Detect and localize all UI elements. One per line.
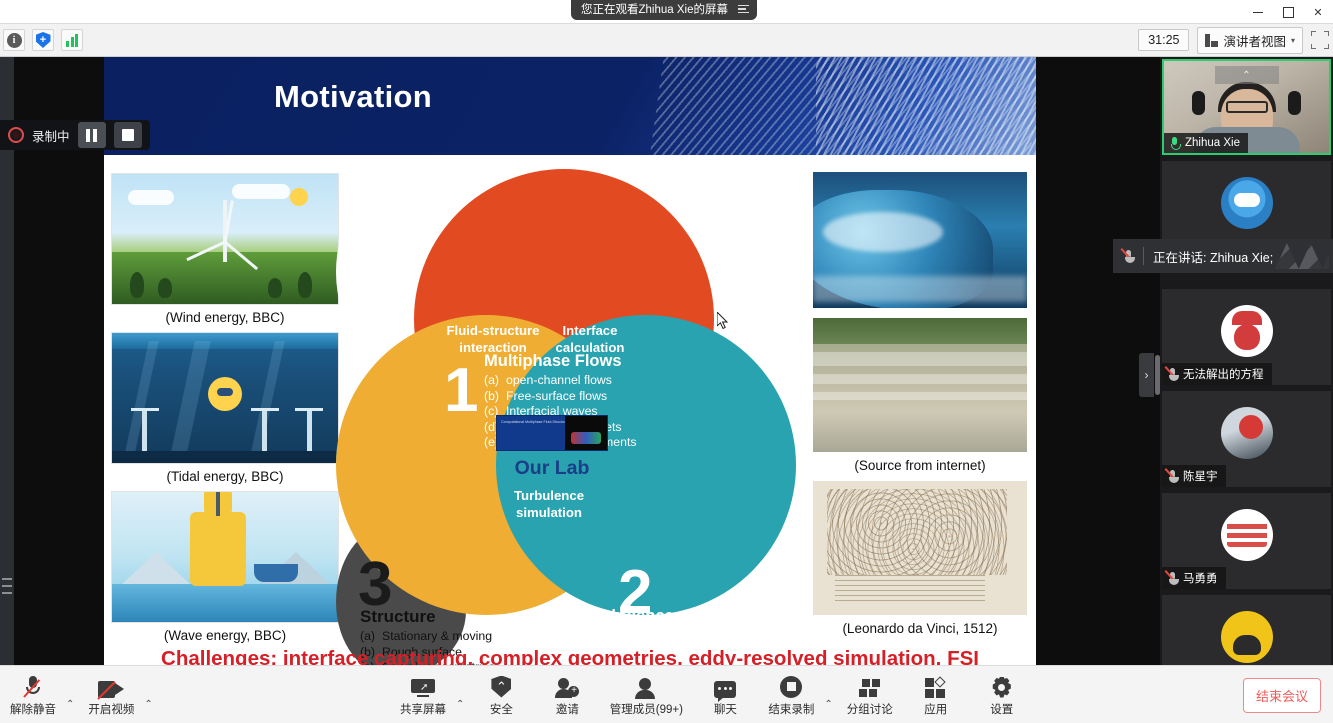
mic-muted-icon — [1167, 571, 1178, 585]
avatar — [1221, 407, 1273, 459]
chat-label: 聊天 — [714, 701, 737, 717]
avatar — [1221, 611, 1273, 663]
list-label: (a) — [586, 628, 602, 644]
wind-energy-photo — [111, 173, 339, 305]
apps-grid-icon — [925, 674, 946, 698]
participants-panel[interactable]: ⌃ Zhihua Xie 无法解出的方程 陈星宇 — [1160, 57, 1333, 665]
participant-name: 无法解出的方程 — [1183, 366, 1264, 382]
share-toolbar-right: 31:25 演讲者视图 ▾ — [1138, 27, 1333, 54]
share-screen-icon: ➚ — [411, 674, 435, 698]
menu-icon[interactable] — [738, 5, 749, 14]
participant-tile-6[interactable]: ⌄ — [1162, 595, 1331, 665]
participant-name-badge: 马勇勇 — [1162, 567, 1226, 589]
stop-record-icon — [780, 674, 802, 698]
maximize-button[interactable] — [1273, 0, 1303, 24]
collapse-panel-handle[interactable]: › — [1139, 353, 1154, 397]
avatar — [1221, 509, 1273, 561]
chat-bubble-icon — [714, 674, 736, 698]
video-options-chevron-icon[interactable]: ⌃ — [144, 699, 152, 723]
panel-scrollbar[interactable] — [1155, 355, 1160, 395]
recording-indicator: 录制中 — [0, 120, 150, 150]
tidal-energy-caption: (Tidal energy, BBC) — [111, 464, 339, 491]
meeting-timer: 31:25 — [1138, 29, 1189, 51]
mic-muted-icon — [1123, 249, 1134, 263]
venn-diagram: 1 2 3 Multiphase Flows (a)open-channel f… — [336, 167, 806, 665]
lab-logo: Computational Multiphase Fluid-Structure… — [496, 415, 608, 451]
pause-recording-button[interactable] — [78, 122, 106, 148]
participant-name-badge: 无法解出的方程 — [1162, 363, 1272, 385]
share-screen-button[interactable]: ➚ 共享屏幕 — [390, 666, 456, 723]
mic-options-chevron-icon[interactable]: ⌃ — [66, 699, 74, 723]
tidal-energy-photo — [111, 332, 339, 464]
mic-muted-icon — [25, 674, 41, 698]
signal-bars-icon[interactable] — [61, 29, 83, 51]
turbulence-title: Turbulence — [586, 607, 791, 626]
rail-line — [2, 578, 12, 580]
active-speaker-banner: 正在讲话: Zhihua Xie; — [1113, 239, 1333, 273]
beach-ripples-photo — [813, 318, 1027, 452]
turbulence-sim-label: Turbulence simulation — [486, 487, 612, 521]
chat-button[interactable]: 聊天 — [692, 666, 758, 723]
mute-button[interactable]: 解除静音 — [0, 666, 66, 723]
slide-title: Motivation — [274, 79, 432, 115]
share-toolbar: i 31:25 演讲者视图 ▾ — [0, 24, 1333, 57]
stop-recording-button[interactable] — [114, 122, 142, 148]
share-toolbar-left: i — [0, 29, 83, 51]
record-options-chevron-icon[interactable]: ⌃ — [824, 699, 832, 723]
internet-source-caption: (Source from internet) — [813, 452, 1027, 481]
screen-share-notice[interactable]: 您正在观看Zhihua Xie的屏幕 — [571, 0, 757, 20]
info-icon[interactable]: i — [3, 29, 25, 51]
close-button[interactable]: ✕ — [1303, 0, 1333, 24]
mute-label: 解除静音 — [10, 701, 56, 717]
invite-person-icon: + — [555, 674, 579, 698]
participants-label: 管理成员(99+) — [610, 701, 683, 717]
active-speaker-label: 正在讲话: Zhihua Xie; — [1153, 247, 1273, 266]
divider — [1143, 247, 1144, 265]
breakout-rooms-icon — [859, 674, 881, 698]
start-video-label: 开启视频 — [88, 701, 134, 717]
wave-energy-photo — [111, 491, 339, 623]
record-dot-icon — [8, 127, 24, 143]
rail-line — [2, 585, 12, 587]
shield-icon — [491, 674, 511, 698]
invite-label: 邀请 — [556, 701, 579, 717]
slide-header: Motivation — [104, 57, 1036, 155]
ocean-wave-photo — [813, 172, 1027, 308]
shield-icon[interactable] — [32, 29, 54, 51]
meeting-toolbar-center: ➚ 共享屏幕 ⌃ 安全 + 邀请 管理成员(99+) 聊天 结束 — [390, 666, 1035, 723]
participant-tile-zhihua-xie[interactable]: ⌃ Zhihua Xie — [1162, 59, 1331, 155]
davinci-caption: (Leonardo da Vinci, 1512) — [813, 615, 1027, 644]
participant-tile-wufajiechudefangcheng[interactable]: 无法解出的方程 — [1162, 289, 1331, 385]
list-text: Hydrodynamics — [608, 628, 693, 644]
list-text: Free-surface flows — [506, 389, 607, 405]
participant-name: 马勇勇 — [1183, 570, 1218, 586]
stop-recording-label: 结束录制 — [768, 701, 814, 717]
meeting-toolbar-right: 结束会议 — [1243, 666, 1321, 723]
presentation-slide: Motivation (Wind energy, BBC) — [104, 57, 1036, 665]
stop-recording-button[interactable]: 结束录制 — [758, 666, 824, 723]
avatar — [1221, 305, 1273, 357]
avatar — [1221, 177, 1273, 229]
security-label: 安全 — [490, 701, 513, 717]
apps-button[interactable]: 应用 — [903, 666, 969, 723]
list-text: open-channel flows — [506, 373, 612, 389]
participant-name-badge: 陈星宇 — [1162, 465, 1226, 487]
mic-muted-icon — [1167, 469, 1178, 483]
window-controls: ✕ — [1243, 0, 1333, 24]
invite-button[interactable]: + 邀请 — [534, 666, 600, 723]
our-lab-center: Computational Multiphase Fluid-Structure… — [486, 415, 618, 480]
recording-label: 录制中 — [32, 126, 70, 145]
participant-name: Zhihua Xie — [1185, 137, 1240, 149]
window-titlebar: 您正在观看Zhihua Xie的屏幕 ✕ — [0, 0, 1333, 24]
right-photo-column: (Source from internet) (Leonardo da Vinc… — [813, 172, 1027, 644]
slide-decoration — [816, 57, 1036, 155]
chevron-up-icon[interactable]: ⌃ — [1215, 66, 1279, 84]
list-label: (a) — [484, 373, 500, 389]
participant-name-badge: Zhihua Xie — [1164, 133, 1248, 153]
participant-name: 陈星宇 — [1183, 468, 1218, 484]
mouse-cursor-icon — [717, 312, 729, 330]
davinci-sketch-photo — [813, 481, 1027, 615]
left-photo-column: (Wind energy, BBC) (Tidal energy, BBC) — [111, 173, 339, 650]
chevron-down-icon: ▾ — [1291, 36, 1295, 45]
participant-tile-chenxingyu[interactable]: 陈星宇 — [1162, 391, 1331, 487]
participants-button[interactable]: 管理成员(99+) — [600, 666, 692, 723]
rail-line — [2, 592, 12, 594]
start-video-button[interactable]: 开启视频 — [78, 666, 144, 723]
participant-tile-mayongyong[interactable]: 马勇勇 — [1162, 493, 1331, 589]
slide-bottom-text: Challenges: interface capturing, complex… — [104, 647, 1036, 665]
list-label: (b) — [484, 389, 500, 405]
view-mode-label: 演讲者视图 — [1223, 31, 1286, 50]
people-icon — [635, 674, 657, 698]
apps-label: 应用 — [924, 701, 947, 717]
lab-logo-image — [565, 416, 607, 451]
structure-title: Structure — [360, 607, 575, 627]
security-button[interactable]: 安全 — [468, 666, 534, 723]
screen-share-notice-label: 您正在观看Zhihua Xie的屏幕 — [581, 1, 728, 17]
wind-energy-caption: (Wind energy, BBC) — [111, 305, 339, 332]
meeting-toolbar-left: 解除静音 ⌃ 开启视频 ⌃ — [0, 666, 157, 723]
list-label: (a) — [360, 629, 376, 645]
venn-number-one: 1 — [444, 355, 478, 426]
meeting-toolbar: 解除静音 ⌃ 开启视频 ⌃ ➚ 共享屏幕 ⌃ 安全 + 邀请 — [0, 665, 1333, 723]
end-meeting-button[interactable]: 结束会议 — [1243, 678, 1321, 713]
fullscreen-icon[interactable] — [1311, 31, 1329, 49]
share-screen-label: 共享屏幕 — [400, 701, 446, 717]
layout-icon — [1205, 34, 1218, 47]
slide-content: (Wind energy, BBC) (Tidal energy, BBC) — [104, 167, 1036, 665]
breakout-rooms-button[interactable]: 分组讨论 — [837, 666, 903, 723]
our-lab-label: Our Lab — [486, 457, 618, 480]
minimize-button[interactable] — [1243, 0, 1273, 24]
settings-label: 设置 — [990, 701, 1013, 717]
breakout-rooms-label: 分组讨论 — [847, 701, 893, 717]
settings-button[interactable]: 设置 — [969, 666, 1035, 723]
interface-label: Interface calculation — [528, 322, 652, 356]
shared-screen-stage: 录制中 Motivation — [0, 57, 1160, 665]
gear-icon — [991, 674, 1012, 698]
slide-body: (Wind energy, BBC) (Tidal energy, BBC) — [104, 155, 1036, 665]
mic-on-icon — [1169, 136, 1180, 150]
wave-energy-caption: (Wave energy, BBC) — [111, 623, 339, 650]
list-text: Stationary & moving — [382, 629, 492, 645]
share-options-chevron-icon[interactable]: ⌃ — [456, 699, 464, 723]
watermark-logo — [1275, 243, 1329, 269]
zoom-meeting-window: 您正在观看Zhihua Xie的屏幕 ✕ i 31:25 演讲者视图 ▾ — [0, 0, 1333, 723]
camera-off-icon — [98, 674, 124, 698]
view-mode-button[interactable]: 演讲者视图 ▾ — [1197, 27, 1303, 54]
mic-muted-icon — [1167, 367, 1178, 381]
